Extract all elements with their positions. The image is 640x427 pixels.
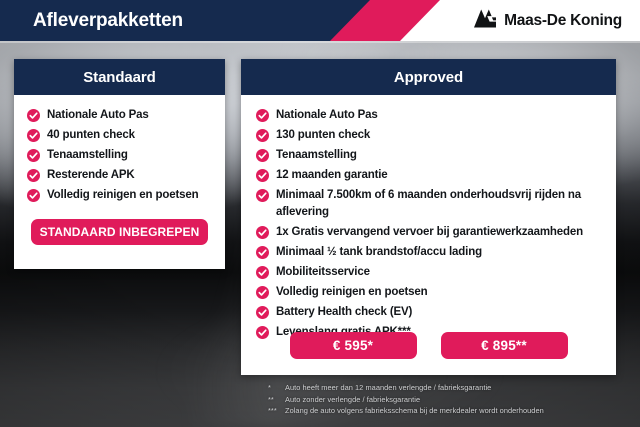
list-item: Mobiliteitsservice: [256, 264, 616, 281]
check-circle-icon: [256, 149, 269, 162]
feature-label: Mobiliteitsservice: [276, 264, 370, 281]
list-item: Volledig reinigen en poetsen: [27, 187, 225, 203]
list-item: Nationale Auto Pas: [256, 107, 616, 124]
check-circle-icon: [256, 266, 269, 279]
page-title: Afleverpakketten: [33, 0, 183, 41]
package-card-approved: Approved Nationale Auto Pas 130 punten c…: [241, 59, 616, 375]
price-button-595[interactable]: € 595*: [290, 332, 417, 359]
package-card-standaard: Standaard Nationale Auto Pas 40 punten c…: [14, 59, 225, 269]
feature-list-standaard: Nationale Auto Pas 40 punten check Tenaa…: [14, 95, 225, 203]
check-circle-icon: [27, 169, 40, 182]
footnote-marker: *: [268, 382, 285, 394]
list-item: 12 maanden garantie: [256, 167, 616, 184]
footnote-block: * Auto heeft meer dan 12 maanden verleng…: [268, 382, 628, 417]
brand-lockup: Maas-De Koning: [473, 0, 622, 41]
list-item: Resterende APK: [27, 167, 225, 183]
check-circle-icon: [27, 129, 40, 142]
slide-root: Afleverpakketten Maas-De Koning Standaar…: [0, 0, 640, 427]
footnote-text: Auto heeft meer dan 12 maanden verlengde…: [285, 382, 491, 394]
brand-name: Maas-De Koning: [504, 12, 622, 30]
list-item: Tenaamstelling: [256, 147, 616, 164]
feature-label: Minimaal 7.500km of 6 maanden onderhouds…: [276, 187, 616, 221]
feature-label: 40 punten check: [47, 127, 135, 143]
feature-label: 12 maanden garantie: [276, 167, 388, 184]
card-title-approved: Approved: [394, 69, 463, 86]
check-circle-icon: [256, 109, 269, 122]
feature-label: Nationale Auto Pas: [47, 107, 149, 123]
card-header-standaard: Standaard: [14, 59, 225, 95]
check-circle-icon: [256, 129, 269, 142]
feature-label: 130 punten check: [276, 127, 370, 144]
check-circle-icon: [256, 246, 269, 259]
footnote-text: Auto zonder verlengde / fabrieksgarantie: [285, 394, 420, 406]
feature-label: Tenaamstelling: [276, 147, 357, 164]
footnote-marker: ***: [268, 405, 285, 417]
footnote-marker: **: [268, 394, 285, 406]
list-item: 130 punten check: [256, 127, 616, 144]
list-item: 40 punten check: [27, 127, 225, 143]
list-item: Nationale Auto Pas: [27, 107, 225, 123]
check-circle-icon: [27, 109, 40, 122]
check-circle-icon: [256, 169, 269, 182]
check-circle-icon: [27, 189, 40, 202]
check-circle-icon: [256, 189, 269, 202]
footnote-row: ** Auto zonder verlengde / fabrieksgaran…: [268, 394, 628, 406]
standaard-inbegrepen-button[interactable]: STANDAARD INBEGREPEN: [31, 219, 208, 245]
header-divider: [0, 41, 640, 43]
footnote-row: *** Zolang de auto volgens fabrieksschem…: [268, 405, 628, 417]
feature-label: Tenaamstelling: [47, 147, 128, 163]
list-item: 1x Gratis vervangend vervoer bij garanti…: [256, 224, 616, 241]
card-title-standaard: Standaard: [83, 69, 155, 86]
feature-label: Nationale Auto Pas: [276, 107, 378, 124]
check-circle-icon: [27, 149, 40, 162]
feature-label: Resterende APK: [47, 167, 135, 183]
check-circle-icon: [256, 306, 269, 319]
check-circle-icon: [256, 286, 269, 299]
price-button-895[interactable]: € 895**: [441, 332, 568, 359]
price-button-row: € 595* € 895**: [241, 332, 616, 359]
feature-label: Volledig reinigen en poetsen: [276, 284, 428, 301]
footnote-row: * Auto heeft meer dan 12 maanden verleng…: [268, 382, 628, 394]
feature-label: 1x Gratis vervangend vervoer bij garanti…: [276, 224, 583, 241]
list-item: Volledig reinigen en poetsen: [256, 284, 616, 301]
list-item: Minimaal 7.500km of 6 maanden onderhouds…: [256, 187, 616, 221]
check-circle-icon: [256, 226, 269, 239]
card-header-approved: Approved: [241, 59, 616, 95]
feature-label: Battery Health check (EV): [276, 304, 412, 321]
feature-list-approved: Nationale Auto Pas 130 punten check Tena…: [241, 95, 616, 341]
footnote-text: Zolang de auto volgens fabrieksschema bi…: [285, 405, 544, 417]
list-item: Minimaal ½ tank brandstof/accu lading: [256, 244, 616, 261]
maas-de-koning-m-logo-icon: [473, 8, 497, 34]
list-item: Tenaamstelling: [27, 147, 225, 163]
feature-label: Volledig reinigen en poetsen: [47, 187, 199, 203]
list-item: Battery Health check (EV): [256, 304, 616, 321]
feature-label: Minimaal ½ tank brandstof/accu lading: [276, 244, 482, 261]
page-header: Afleverpakketten Maas-De Koning: [0, 0, 640, 41]
